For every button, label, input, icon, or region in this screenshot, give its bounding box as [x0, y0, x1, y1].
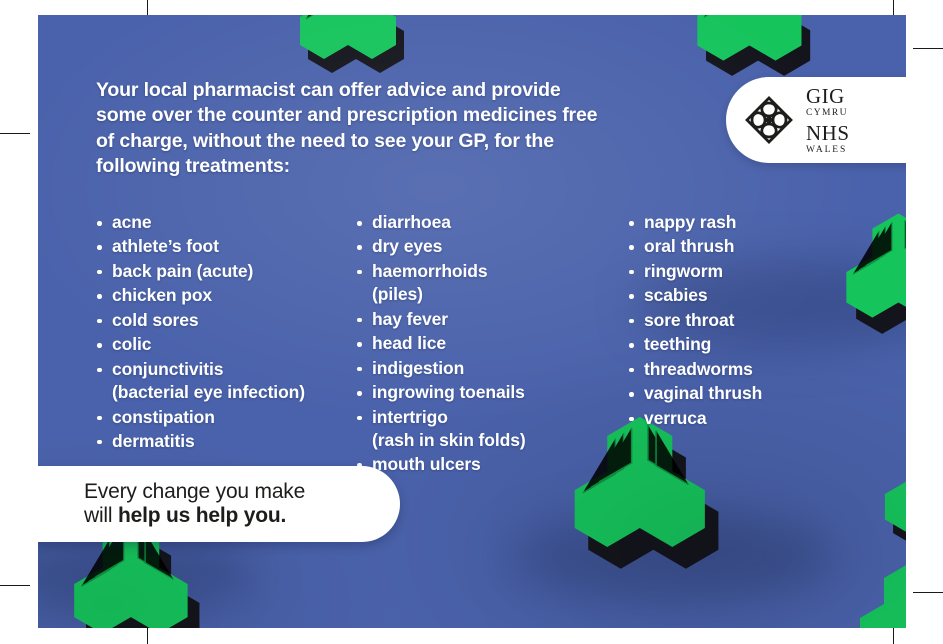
treatment-label: athlete’s foot: [112, 236, 219, 256]
list-item: ringworm: [624, 260, 892, 283]
treatment-label: constipation: [112, 407, 215, 427]
treatment-label: colic: [112, 334, 151, 354]
crop-mark-top-left-horizontal: [0, 133, 30, 134]
treatment-label: oral thrush: [644, 236, 734, 256]
treatment-label: vaginal thrush: [644, 383, 762, 403]
list-item: conjunctivitis(bacterial eye infection): [92, 358, 352, 405]
treatment-label: dermatitis: [112, 431, 195, 451]
pharmacy-advice-poster: Your local pharmacist can offer advice a…: [0, 0, 943, 644]
strapline-emphasis: help us help you.: [118, 504, 286, 527]
treatment-label: acne: [112, 212, 152, 232]
list-item: chicken pox: [92, 284, 352, 307]
list-item: indigestion: [352, 357, 624, 380]
list-item: cold sores: [92, 309, 352, 332]
treatment-label: cold sores: [112, 310, 199, 330]
treatments-list: acne athlete’s foot back pain (acute) ch…: [92, 211, 892, 478]
list-item: back pain (acute): [92, 260, 352, 283]
treatment-label-continuation: (piles): [372, 283, 624, 306]
nhs-wales-logo-wordmark: GIG CYMRU NHS WALES: [806, 85, 850, 156]
treatment-label: scabies: [644, 285, 708, 305]
treatment-label: hay fever: [372, 309, 448, 329]
treatment-label: chicken pox: [112, 285, 212, 305]
list-item: nappy rash: [624, 211, 892, 234]
poster-artwork-panel: Your local pharmacist can offer advice a…: [38, 15, 906, 628]
list-item: oral thrush: [624, 235, 892, 258]
treatments-column-1: acne athlete’s foot back pain (acute) ch…: [92, 211, 352, 478]
treatment-label: ingrowing toenails: [372, 382, 525, 402]
logo-line-nhs: NHS: [806, 123, 850, 144]
list-item: dermatitis: [92, 430, 352, 453]
treatment-label: head lice: [372, 333, 446, 353]
nhs-wales-celtic-knot-icon: [744, 95, 794, 145]
list-item: scabies: [624, 284, 892, 307]
strapline-banner: Every change you make will help us help …: [38, 466, 400, 542]
treatment-label: ringworm: [644, 261, 723, 281]
nhs-wales-logo: GIG CYMRU NHS WALES: [726, 77, 906, 163]
treatment-label: verruca: [644, 408, 707, 428]
strapline-line-1: Every change you make: [84, 480, 400, 504]
pharmacy-cross-icon: [60, 527, 190, 628]
list-item: haemorrhoids(piles): [352, 260, 624, 307]
treatment-label: intertrigo: [372, 407, 448, 427]
treatments-column-2: diarrhoea dry eyes haemorrhoids(piles) h…: [352, 211, 624, 478]
list-item: colic: [92, 333, 352, 356]
list-item: constipation: [92, 406, 352, 429]
treatment-label: conjunctivitis: [112, 359, 223, 379]
page-title: Your local pharmacist can offer advice a…: [96, 78, 616, 179]
crop-mark-top-right-horizontal: [913, 48, 943, 49]
treatment-label-continuation: (rash in skin folds): [372, 429, 624, 452]
list-item: threadworms: [624, 358, 892, 381]
crop-mark-bottom-right-horizontal: [913, 592, 943, 593]
list-item: teething: [624, 333, 892, 356]
treatment-label: sore throat: [644, 310, 734, 330]
list-item: verruca: [624, 407, 892, 430]
list-item: acne: [92, 211, 352, 234]
treatment-label: mouth ulcers: [372, 454, 481, 474]
crop-mark-bottom-left-horizontal: [0, 585, 30, 586]
pharmacy-cross-icon: [288, 15, 398, 87]
list-item: ingrowing toenails: [352, 381, 624, 404]
list-item: vaginal thrush: [624, 382, 892, 405]
list-item: athlete’s foot: [92, 235, 352, 258]
list-item: dry eyes: [352, 235, 624, 258]
list-item: intertrigo(rash in skin folds): [352, 406, 624, 453]
treatment-label: back pain (acute): [112, 261, 253, 281]
logo-line-gig: GIG: [806, 86, 850, 107]
logo-line-wales: WALES: [806, 146, 850, 156]
treatment-label: dry eyes: [372, 236, 442, 256]
treatment-label: threadworms: [644, 359, 753, 379]
list-item: diarrhoea: [352, 211, 624, 234]
treatment-label: haemorrhoids: [372, 261, 488, 281]
treatment-label: teething: [644, 334, 711, 354]
strapline-prefix: will: [84, 504, 118, 527]
treatment-label: diarrhoea: [372, 212, 451, 232]
pharmacy-cross-icon: [848, 570, 906, 628]
treatment-label: indigestion: [372, 358, 464, 378]
list-item: hay fever: [352, 308, 624, 331]
treatment-label-continuation: (bacterial eye infection): [112, 381, 352, 404]
list-item: mouth ulcers: [352, 453, 624, 476]
list-item: head lice: [352, 332, 624, 355]
strapline-line-2: will help us help you.: [84, 504, 400, 528]
treatment-label: nappy rash: [644, 212, 736, 232]
treatments-column-3: nappy rash oral thrush ringworm scabies …: [624, 211, 892, 478]
list-item: sore throat: [624, 309, 892, 332]
logo-line-cymru: CYMRU: [806, 109, 850, 119]
